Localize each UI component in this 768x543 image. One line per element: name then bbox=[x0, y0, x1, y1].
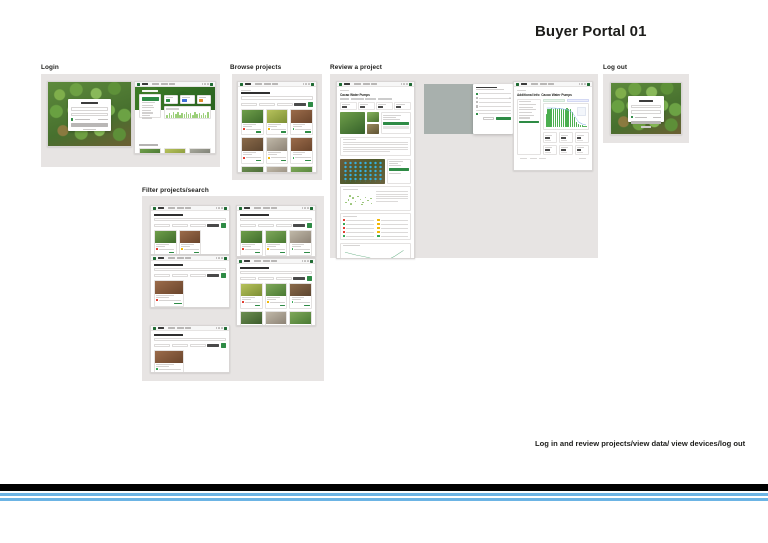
bell-icon[interactable] bbox=[305, 83, 307, 85]
breadcrumb[interactable] bbox=[517, 90, 526, 91]
status-row[interactable] bbox=[377, 219, 408, 222]
tab-energy-use[interactable] bbox=[567, 99, 589, 102]
apply-button[interactable] bbox=[519, 121, 538, 124]
nav-item-projects[interactable] bbox=[168, 257, 175, 258]
project-card[interactable] bbox=[240, 311, 263, 326]
project-card-body bbox=[266, 243, 287, 255]
project-gallery[interactable] bbox=[340, 112, 379, 134]
project-card[interactable] bbox=[265, 311, 288, 326]
project-price bbox=[280, 252, 285, 254]
tile-label bbox=[561, 135, 568, 136]
nav-item-devices[interactable] bbox=[363, 83, 370, 84]
featured-projects-title bbox=[139, 144, 158, 146]
project-card[interactable] bbox=[154, 350, 184, 373]
projects-grid bbox=[237, 230, 315, 256]
screen-filter-result-4[interactable] bbox=[236, 258, 316, 326]
note-line bbox=[376, 196, 408, 197]
gallery-thumb[interactable] bbox=[367, 124, 380, 134]
filter-select-region[interactable] bbox=[258, 277, 274, 280]
tag-label bbox=[295, 157, 310, 158]
footer-link[interactable] bbox=[579, 158, 586, 159]
nav-item-reports[interactable] bbox=[169, 83, 175, 84]
screen-login[interactable] bbox=[47, 81, 132, 147]
sidebar-item[interactable] bbox=[519, 107, 532, 108]
nav-item-reports[interactable] bbox=[185, 257, 191, 258]
bell-icon[interactable] bbox=[218, 257, 220, 259]
breadcrumb[interactable] bbox=[241, 90, 251, 91]
detail-stat-row bbox=[340, 102, 411, 110]
filter-select-status[interactable] bbox=[276, 277, 292, 280]
request-info-modal[interactable] bbox=[473, 84, 513, 134]
project-card[interactable] bbox=[241, 137, 264, 164]
project-price bbox=[305, 160, 310, 162]
nav-item-reports[interactable] bbox=[548, 83, 554, 84]
search-icon[interactable] bbox=[302, 207, 304, 209]
projects-grid bbox=[238, 109, 316, 173]
modal-option[interactable] bbox=[476, 97, 511, 99]
footer-link[interactable] bbox=[530, 158, 537, 159]
map-view-toggle[interactable] bbox=[307, 223, 312, 228]
create-account-link[interactable] bbox=[641, 126, 651, 127]
footer-link[interactable] bbox=[539, 158, 546, 159]
checkbox[interactable] bbox=[476, 101, 478, 103]
map-view-toggle[interactable] bbox=[307, 276, 312, 281]
password-field[interactable] bbox=[631, 110, 661, 114]
side-label bbox=[389, 173, 401, 174]
search-input[interactable] bbox=[241, 96, 313, 99]
search-icon[interactable] bbox=[303, 83, 305, 85]
project-card[interactable] bbox=[265, 283, 288, 309]
search-icon[interactable] bbox=[216, 327, 218, 329]
email-field[interactable] bbox=[631, 105, 661, 109]
project-name bbox=[292, 244, 305, 245]
project-card-body bbox=[155, 363, 183, 373]
project-card[interactable] bbox=[266, 137, 289, 164]
project-name bbox=[267, 244, 280, 245]
project-thumbnail bbox=[267, 167, 288, 173]
project-price bbox=[174, 303, 182, 305]
nav-item-reports[interactable] bbox=[271, 260, 277, 261]
cancel-button[interactable] bbox=[483, 117, 494, 120]
brand-logo-icon bbox=[239, 207, 242, 210]
map-view-toggle[interactable] bbox=[221, 343, 226, 348]
nav-item-devices[interactable] bbox=[177, 207, 184, 208]
metric-tile[interactable] bbox=[575, 145, 589, 155]
map-view-toggle[interactable] bbox=[308, 102, 313, 107]
search-input[interactable] bbox=[154, 218, 226, 221]
tag-swatch bbox=[267, 301, 269, 303]
apply-filters-button[interactable] bbox=[207, 224, 219, 227]
footer-link[interactable] bbox=[520, 158, 527, 159]
help-icon[interactable] bbox=[307, 207, 309, 209]
avatar[interactable] bbox=[210, 83, 213, 86]
project-card[interactable] bbox=[289, 230, 312, 256]
bell-icon[interactable] bbox=[304, 260, 306, 262]
project-card[interactable] bbox=[266, 166, 289, 173]
nav-item-reports[interactable] bbox=[185, 207, 191, 208]
remember-checkbox[interactable] bbox=[71, 118, 73, 120]
project-tag bbox=[268, 157, 286, 159]
apply-filters-button[interactable] bbox=[207, 274, 219, 277]
side-card-item[interactable] bbox=[142, 102, 156, 103]
filter-bar bbox=[154, 343, 226, 348]
search-input[interactable] bbox=[154, 338, 226, 341]
side-card-item[interactable] bbox=[142, 117, 153, 118]
status-row[interactable] bbox=[377, 231, 408, 234]
additional-body: Additional Info: Cacao Water Pumps bbox=[514, 87, 592, 162]
gallery-thumb[interactable] bbox=[367, 112, 380, 122]
tile-value bbox=[561, 149, 566, 151]
gallery-main-image[interactable] bbox=[340, 112, 365, 134]
avatar[interactable] bbox=[310, 207, 313, 210]
login-submit-button[interactable] bbox=[631, 121, 661, 125]
filter-select-region[interactable] bbox=[172, 274, 188, 277]
brand-wordmark bbox=[344, 83, 350, 85]
screen-filter-result-1[interactable] bbox=[150, 205, 230, 255]
avatar[interactable] bbox=[310, 260, 313, 263]
filter-select-type[interactable] bbox=[240, 277, 256, 280]
avatar[interactable] bbox=[409, 83, 412, 86]
search-icon[interactable] bbox=[302, 260, 304, 262]
project-card[interactable] bbox=[289, 311, 312, 326]
bell-icon[interactable] bbox=[304, 207, 306, 209]
map-view-toggle[interactable] bbox=[221, 273, 226, 278]
modal-option[interactable] bbox=[476, 101, 511, 103]
filter-select-type[interactable] bbox=[154, 274, 170, 277]
send-request-button[interactable] bbox=[496, 117, 511, 120]
nav-item-projects[interactable] bbox=[152, 83, 159, 84]
apply-filters-button[interactable] bbox=[207, 344, 219, 347]
bell-icon[interactable] bbox=[581, 83, 583, 85]
page-footer bbox=[237, 256, 315, 257]
project-card[interactable] bbox=[290, 166, 313, 173]
stat-card-devices[interactable] bbox=[180, 95, 194, 104]
sidebar-item[interactable] bbox=[519, 104, 535, 105]
project-tag bbox=[156, 368, 182, 370]
tag-label bbox=[159, 369, 181, 370]
section-caption-review: Review a project bbox=[330, 64, 382, 71]
modal-title bbox=[476, 87, 497, 89]
option-label bbox=[479, 98, 510, 99]
login-submit-button[interactable] bbox=[71, 123, 108, 127]
help-icon[interactable] bbox=[207, 83, 209, 85]
help-icon[interactable] bbox=[221, 207, 223, 209]
metric-tile[interactable] bbox=[559, 132, 573, 142]
avatar[interactable] bbox=[311, 83, 314, 86]
nav-item-reports[interactable] bbox=[185, 327, 191, 328]
project-card-body bbox=[290, 296, 311, 308]
avatar[interactable] bbox=[224, 207, 227, 210]
status-row[interactable] bbox=[343, 219, 374, 222]
output-chart-section bbox=[340, 243, 411, 259]
nav-item-projects[interactable] bbox=[255, 83, 262, 84]
project-card[interactable] bbox=[289, 283, 312, 309]
close-icon[interactable] bbox=[509, 86, 511, 88]
tile-value bbox=[545, 137, 550, 139]
screen-dashboard[interactable] bbox=[134, 81, 216, 154]
status-row[interactable] bbox=[377, 223, 408, 226]
project-tag bbox=[181, 248, 199, 250]
secondary-action-button[interactable] bbox=[383, 126, 408, 129]
sidebar-item[interactable] bbox=[519, 109, 536, 110]
project-card[interactable] bbox=[154, 230, 177, 255]
sidebar-item[interactable] bbox=[519, 117, 530, 118]
filter-select-region[interactable] bbox=[172, 344, 188, 347]
status-badge bbox=[343, 231, 346, 234]
forgot-password-link[interactable] bbox=[653, 117, 662, 118]
nav-item-devices[interactable] bbox=[161, 83, 168, 84]
project-card[interactable] bbox=[139, 148, 161, 154]
brand-logo-icon bbox=[153, 207, 156, 210]
help-icon[interactable] bbox=[308, 83, 310, 85]
project-card[interactable] bbox=[240, 283, 263, 309]
stat-card-projects[interactable] bbox=[164, 95, 178, 104]
project-card[interactable] bbox=[290, 137, 313, 164]
tile-footnote bbox=[561, 140, 567, 141]
project-thumbnail bbox=[266, 231, 287, 243]
project-name bbox=[156, 364, 174, 365]
modal-option[interactable] bbox=[476, 105, 511, 107]
password-field[interactable] bbox=[71, 113, 108, 117]
status-row[interactable] bbox=[343, 227, 374, 230]
story-heading bbox=[343, 139, 356, 140]
bell-icon[interactable] bbox=[403, 83, 405, 85]
project-card[interactable] bbox=[189, 148, 211, 154]
search-icon[interactable] bbox=[202, 83, 204, 85]
project-card[interactable] bbox=[154, 280, 184, 307]
screen-project-detail[interactable]: Cacao Water Pumps bbox=[336, 81, 415, 259]
screen-filter-result-3[interactable] bbox=[150, 255, 230, 308]
project-card[interactable] bbox=[241, 166, 264, 173]
screen-logout[interactable] bbox=[610, 82, 682, 135]
modal-actions bbox=[476, 117, 511, 120]
search-icon[interactable] bbox=[579, 83, 581, 85]
tile-footnote bbox=[577, 140, 583, 141]
filter-select-type[interactable] bbox=[240, 224, 256, 227]
help-icon[interactable] bbox=[221, 257, 223, 259]
search-input[interactable] bbox=[240, 218, 312, 221]
email-field[interactable] bbox=[71, 107, 108, 111]
story-line bbox=[343, 147, 409, 148]
logout-card bbox=[628, 96, 664, 122]
nav-item-devices[interactable] bbox=[177, 327, 184, 328]
breadcrumb[interactable] bbox=[340, 90, 349, 91]
filter-select-status[interactable] bbox=[190, 274, 206, 277]
apply-filters-button[interactable] bbox=[294, 103, 306, 106]
project-card[interactable] bbox=[266, 109, 289, 136]
filter-select-status[interactable] bbox=[277, 103, 293, 106]
filter-select-status[interactable] bbox=[276, 224, 292, 227]
search-icon[interactable] bbox=[216, 207, 218, 209]
view-devices-button[interactable] bbox=[389, 168, 408, 171]
filter-select-region[interactable] bbox=[172, 224, 188, 227]
nav-item-devices[interactable] bbox=[263, 207, 270, 208]
nav-item-devices[interactable] bbox=[263, 260, 270, 261]
brand-wordmark bbox=[244, 260, 250, 262]
checkbox[interactable] bbox=[476, 93, 478, 95]
project-price bbox=[174, 372, 182, 373]
avatar[interactable] bbox=[587, 83, 590, 86]
project-tag bbox=[268, 128, 286, 130]
filter-select-type[interactable] bbox=[154, 224, 170, 227]
create-account-link[interactable] bbox=[83, 129, 96, 130]
project-card[interactable] bbox=[265, 230, 288, 256]
modal-option[interactable] bbox=[476, 93, 511, 95]
metric-tiles bbox=[543, 132, 589, 154]
filter-select-status[interactable] bbox=[190, 224, 206, 227]
metric-tile[interactable] bbox=[559, 145, 573, 155]
checkbox[interactable] bbox=[476, 105, 478, 107]
project-tag bbox=[293, 128, 311, 130]
filter-select-type[interactable] bbox=[241, 103, 257, 106]
header-actions bbox=[302, 207, 313, 210]
project-thumbnail bbox=[155, 281, 183, 294]
option-label bbox=[479, 106, 510, 107]
header-actions bbox=[202, 83, 213, 86]
status-label bbox=[346, 232, 374, 233]
status-row[interactable] bbox=[343, 235, 374, 238]
nav-item-projects[interactable] bbox=[168, 207, 175, 208]
project-card[interactable] bbox=[241, 109, 264, 136]
modal-consent[interactable] bbox=[476, 113, 511, 115]
search-input[interactable] bbox=[240, 271, 312, 274]
status-label bbox=[381, 228, 409, 229]
project-card[interactable] bbox=[240, 230, 263, 256]
side-card-item[interactable] bbox=[142, 112, 154, 113]
dashboard-chart-card bbox=[164, 106, 211, 119]
forgot-password-link[interactable] bbox=[98, 119, 108, 120]
tag-swatch bbox=[293, 157, 295, 159]
device-map[interactable] bbox=[340, 159, 385, 184]
side-card-item[interactable] bbox=[142, 107, 155, 108]
status-list bbox=[343, 219, 409, 238]
bell-icon[interactable] bbox=[204, 83, 206, 85]
project-card[interactable] bbox=[164, 148, 186, 154]
nav-item-devices[interactable] bbox=[264, 83, 271, 84]
side-card-item[interactable] bbox=[142, 110, 152, 111]
project-tag bbox=[267, 248, 285, 250]
additional-main bbox=[543, 99, 589, 155]
project-card-body bbox=[155, 243, 176, 255]
remember-row[interactable] bbox=[71, 118, 108, 120]
tag-label bbox=[246, 129, 261, 130]
apply-filters-button[interactable] bbox=[293, 277, 305, 280]
status-row[interactable] bbox=[343, 231, 374, 234]
screen-filter-result-5[interactable] bbox=[150, 325, 230, 373]
search-input[interactable] bbox=[154, 268, 226, 271]
metric-tile[interactable] bbox=[575, 132, 589, 142]
remember-row[interactable] bbox=[631, 116, 661, 118]
note-line bbox=[376, 191, 408, 192]
side-card-header bbox=[142, 97, 159, 101]
brand-wordmark bbox=[244, 207, 250, 209]
avatar[interactable] bbox=[224, 257, 227, 260]
login-title bbox=[81, 102, 98, 104]
tab-water-output[interactable] bbox=[543, 99, 565, 102]
brand-logo-icon bbox=[240, 83, 243, 86]
help-icon[interactable] bbox=[584, 83, 586, 85]
project-location bbox=[243, 154, 252, 155]
metric-tile[interactable] bbox=[543, 132, 557, 142]
status-label bbox=[381, 220, 409, 221]
additional-layout bbox=[517, 99, 589, 155]
search-icon[interactable] bbox=[216, 257, 218, 259]
status-label bbox=[346, 224, 374, 225]
apply-filters-button[interactable] bbox=[293, 224, 305, 227]
help-icon[interactable] bbox=[307, 260, 309, 262]
help-icon[interactable] bbox=[221, 327, 223, 329]
tag-swatch bbox=[268, 157, 270, 159]
project-name bbox=[242, 297, 255, 298]
project-thumbnail bbox=[266, 312, 287, 324]
screen-filter-result-2[interactable] bbox=[236, 205, 316, 257]
request-info-button[interactable] bbox=[383, 122, 408, 125]
projects-count-heading bbox=[154, 334, 183, 336]
project-card[interactable] bbox=[290, 109, 313, 136]
screen-browse-projects[interactable] bbox=[237, 81, 317, 173]
bell-icon[interactable] bbox=[218, 327, 220, 329]
map-view-toggle[interactable] bbox=[221, 223, 226, 228]
status-label bbox=[381, 232, 409, 233]
filter-select-region[interactable] bbox=[259, 103, 275, 106]
project-location bbox=[293, 154, 302, 155]
filter-select-status[interactable] bbox=[190, 344, 206, 347]
avatar[interactable] bbox=[224, 327, 227, 330]
project-meta-row bbox=[340, 98, 411, 99]
nav-item-projects[interactable] bbox=[354, 83, 361, 84]
search-icon[interactable] bbox=[401, 83, 403, 85]
checkbox[interactable] bbox=[476, 113, 478, 115]
performance-heading bbox=[343, 189, 359, 190]
brand-wordmark bbox=[158, 207, 164, 209]
project-card[interactable] bbox=[179, 230, 202, 255]
nav-item-projects[interactable] bbox=[168, 327, 175, 328]
bell-icon[interactable] bbox=[218, 207, 220, 209]
filter-select-type[interactable] bbox=[154, 344, 170, 347]
status-row[interactable] bbox=[377, 235, 408, 238]
nav-item-devices[interactable] bbox=[177, 257, 184, 258]
status-row[interactable] bbox=[377, 227, 408, 230]
nav-item-reports[interactable] bbox=[371, 83, 377, 84]
nav-item-devices[interactable] bbox=[540, 83, 547, 84]
tag-swatch bbox=[181, 248, 183, 250]
nav-item-reports[interactable] bbox=[272, 83, 278, 84]
remember-checkbox[interactable] bbox=[631, 116, 633, 118]
nav-item-projects[interactable] bbox=[254, 207, 261, 208]
status-label bbox=[346, 236, 374, 237]
project-thumbnail bbox=[267, 110, 288, 123]
filter-select-region[interactable] bbox=[258, 224, 274, 227]
nav-item-projects[interactable] bbox=[531, 83, 538, 84]
status-row[interactable] bbox=[343, 223, 374, 226]
dashboard-side-card[interactable] bbox=[139, 94, 161, 118]
help-icon[interactable] bbox=[406, 83, 408, 85]
nav-item-reports[interactable] bbox=[271, 207, 277, 208]
brand-wordmark bbox=[245, 83, 251, 85]
sidebar-item[interactable] bbox=[519, 112, 531, 113]
stat-card-credits[interactable] bbox=[197, 95, 211, 104]
checkbox[interactable] bbox=[476, 97, 478, 99]
nav-item-projects[interactable] bbox=[254, 260, 261, 261]
metric-tile[interactable] bbox=[543, 145, 557, 155]
screen-additional-info[interactable]: Additional Info: Cacao Water Pumps bbox=[513, 81, 593, 171]
performance-section bbox=[340, 186, 411, 211]
sidebar-item[interactable] bbox=[519, 115, 534, 116]
stat-label bbox=[342, 104, 350, 105]
side-card-item[interactable] bbox=[142, 105, 153, 106]
tag-swatch bbox=[292, 248, 294, 250]
side-card-item[interactable] bbox=[142, 115, 151, 116]
